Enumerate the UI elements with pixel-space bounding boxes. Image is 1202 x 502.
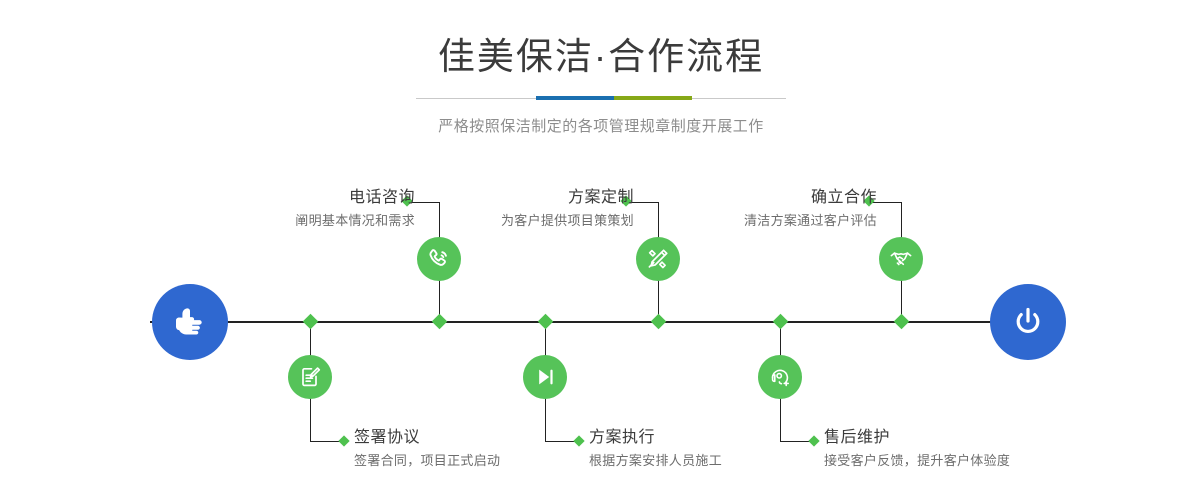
- step-desc: 为客户提供项目策策划: [501, 211, 634, 231]
- handshake-icon: [888, 246, 914, 272]
- step-title: 确立合作: [744, 188, 877, 208]
- timeline-marker-4: [538, 314, 554, 330]
- step-desc: 签署合同，项目正式启动: [354, 451, 500, 471]
- step-label-phone-consultation: 电话咨询 阐明基本情况和需求: [295, 188, 415, 231]
- step-desc: 接受客户反馈，提升客户体验度: [824, 451, 1010, 471]
- step-desc: 根据方案安排人员施工: [589, 451, 722, 471]
- step-desc: 清洁方案通过客户评估: [744, 211, 877, 231]
- timeline-marker-6: [773, 314, 789, 330]
- step-desc: 阐明基本情况和需求: [295, 211, 415, 231]
- step-label-after-sales-maintenance: 售后维护 接受客户反馈，提升客户体验度: [824, 428, 1010, 471]
- customer-service-add-icon: [767, 364, 793, 390]
- timeline-marker-5: [894, 314, 910, 330]
- step-node-plan-execution[interactable]: [523, 355, 567, 399]
- step-title: 售后维护: [824, 428, 1010, 448]
- step-node-sign-agreement[interactable]: [288, 355, 332, 399]
- label-marker-2: [338, 435, 349, 446]
- document-edit-icon: [297, 364, 323, 390]
- timeline-marker-1: [432, 314, 448, 330]
- step-label-plan-execution: 方案执行 根据方案安排人员施工: [589, 428, 722, 471]
- pencil-ruler-icon: [645, 246, 671, 272]
- timeline-marker-3: [651, 314, 667, 330]
- step-title: 方案执行: [589, 428, 722, 448]
- timeline-start-node[interactable]: [152, 284, 228, 360]
- step-title: 方案定制: [501, 188, 634, 208]
- step-label-sign-agreement: 签署协议 签署合同，项目正式启动: [354, 428, 500, 471]
- step-title: 签署协议: [354, 428, 500, 448]
- timeline-end-node[interactable]: [990, 284, 1066, 360]
- step-node-phone-consultation[interactable]: [417, 237, 461, 281]
- timeline-marker-2: [303, 314, 319, 330]
- pointing-hand-icon: [170, 302, 210, 342]
- step-node-establish-cooperation[interactable]: [879, 237, 923, 281]
- timeline-axis: [150, 321, 1050, 323]
- play-execute-icon: [532, 364, 558, 390]
- label-marker-4: [573, 435, 584, 446]
- step-node-after-sales-maintenance[interactable]: [758, 355, 802, 399]
- step-title: 电话咨询: [295, 188, 415, 208]
- label-marker-6: [808, 435, 819, 446]
- phone-call-icon: [426, 246, 452, 272]
- process-timeline: 电话咨询 阐明基本情况和需求 签署协议 签署合同，项目正式启动: [0, 0, 1202, 502]
- step-label-plan-customization: 方案定制 为客户提供项目策策划: [501, 188, 634, 231]
- power-icon: [1008, 302, 1048, 342]
- step-node-plan-customization[interactable]: [636, 237, 680, 281]
- step-label-establish-cooperation: 确立合作 清洁方案通过客户评估: [744, 188, 877, 231]
